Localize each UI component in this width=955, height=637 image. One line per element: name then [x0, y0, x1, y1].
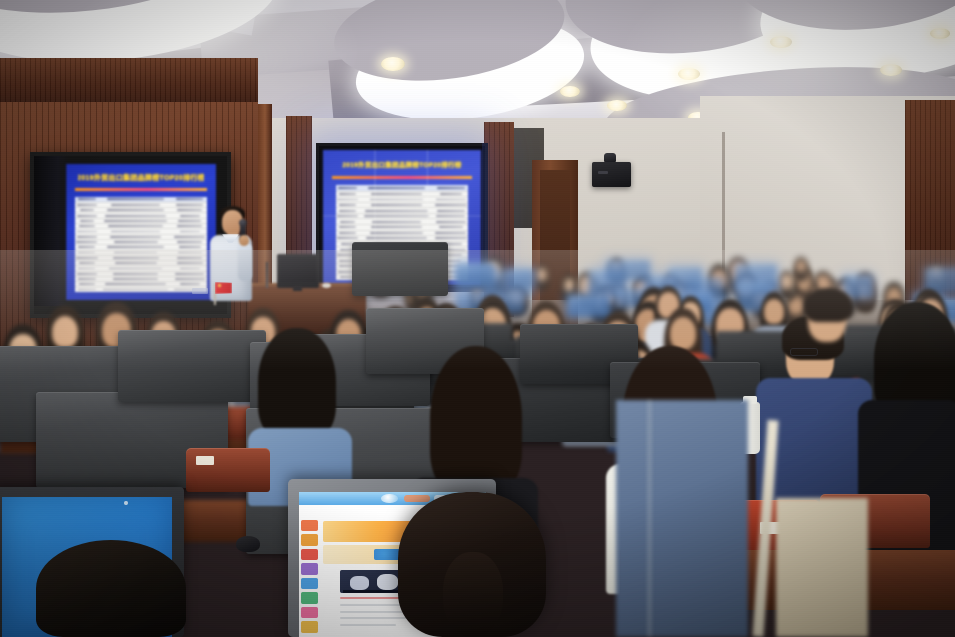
student-head: [536, 268, 547, 281]
monitor-screen-blue[interactable]: [606, 260, 650, 280]
site-logo-icon: [381, 494, 398, 503]
chair[interactable]: [186, 448, 270, 492]
text-line: [340, 611, 407, 613]
slide-title-right: 2019外贸出口集团品牌榜TOP20排行榜: [336, 157, 469, 172]
student-head: [796, 260, 806, 272]
student-head: [780, 274, 793, 289]
sidebar-icon[interactable]: [301, 534, 318, 546]
ceiling-downlight: [560, 86, 580, 97]
slide-title-left: 2019外贸出口集团品牌榜TOP20排行榜: [78, 171, 204, 186]
tote-bag: [776, 498, 868, 637]
student-hair: [804, 288, 852, 322]
microphone-head: [239, 219, 247, 226]
student-head: [764, 299, 784, 324]
chair-label: [196, 456, 214, 465]
topbar-pill[interactable]: [404, 495, 430, 502]
mouse-icon[interactable]: [236, 536, 260, 552]
monitor-screen-blue[interactable]: [567, 295, 610, 317]
monitor-back[interactable]: [352, 242, 448, 296]
sidebar-icon[interactable]: [301, 520, 318, 532]
student-hair: [258, 328, 336, 440]
student-head: [52, 316, 78, 349]
sidebar-icons[interactable]: [301, 520, 318, 633]
sidebar-icon[interactable]: [301, 607, 318, 619]
text-line: [340, 624, 396, 626]
wall-speaker: [592, 162, 631, 187]
camera-icon: [604, 153, 616, 162]
sidebar-icon[interactable]: [301, 592, 318, 604]
presenter-hand: [239, 235, 249, 246]
sidebar-icon[interactable]: [301, 549, 318, 561]
lecture-hall-photo: 2019外贸出口集团品牌榜TOP20排行榜 2019外贸出口集团品牌榜TOP20…: [0, 0, 955, 637]
denim-seam: [648, 400, 651, 637]
sidebar-icon[interactable]: [301, 563, 318, 575]
monitor-back[interactable]: [118, 330, 266, 402]
foreground-student-head-left: [36, 540, 186, 637]
glasses-icon: [790, 348, 818, 356]
student-hair: [430, 346, 522, 496]
monitor-screen-blue[interactable]: [458, 265, 494, 286]
left-wood-header: [0, 58, 258, 102]
ceiling-downlight: [381, 57, 405, 71]
student-denim-jacket: [616, 400, 748, 637]
foreground-student-hair-bun: [443, 552, 503, 637]
sidebar-icon[interactable]: [301, 621, 318, 633]
ceiling-downlight: [607, 100, 627, 111]
sidebar-icon[interactable]: [301, 578, 318, 590]
monitor-screen-blue[interactable]: [506, 269, 534, 288]
monitor-left-indicator: [124, 501, 128, 505]
text-line: [340, 617, 413, 619]
monitor-screen-blue[interactable]: [925, 268, 955, 292]
student-head: [564, 278, 576, 292]
